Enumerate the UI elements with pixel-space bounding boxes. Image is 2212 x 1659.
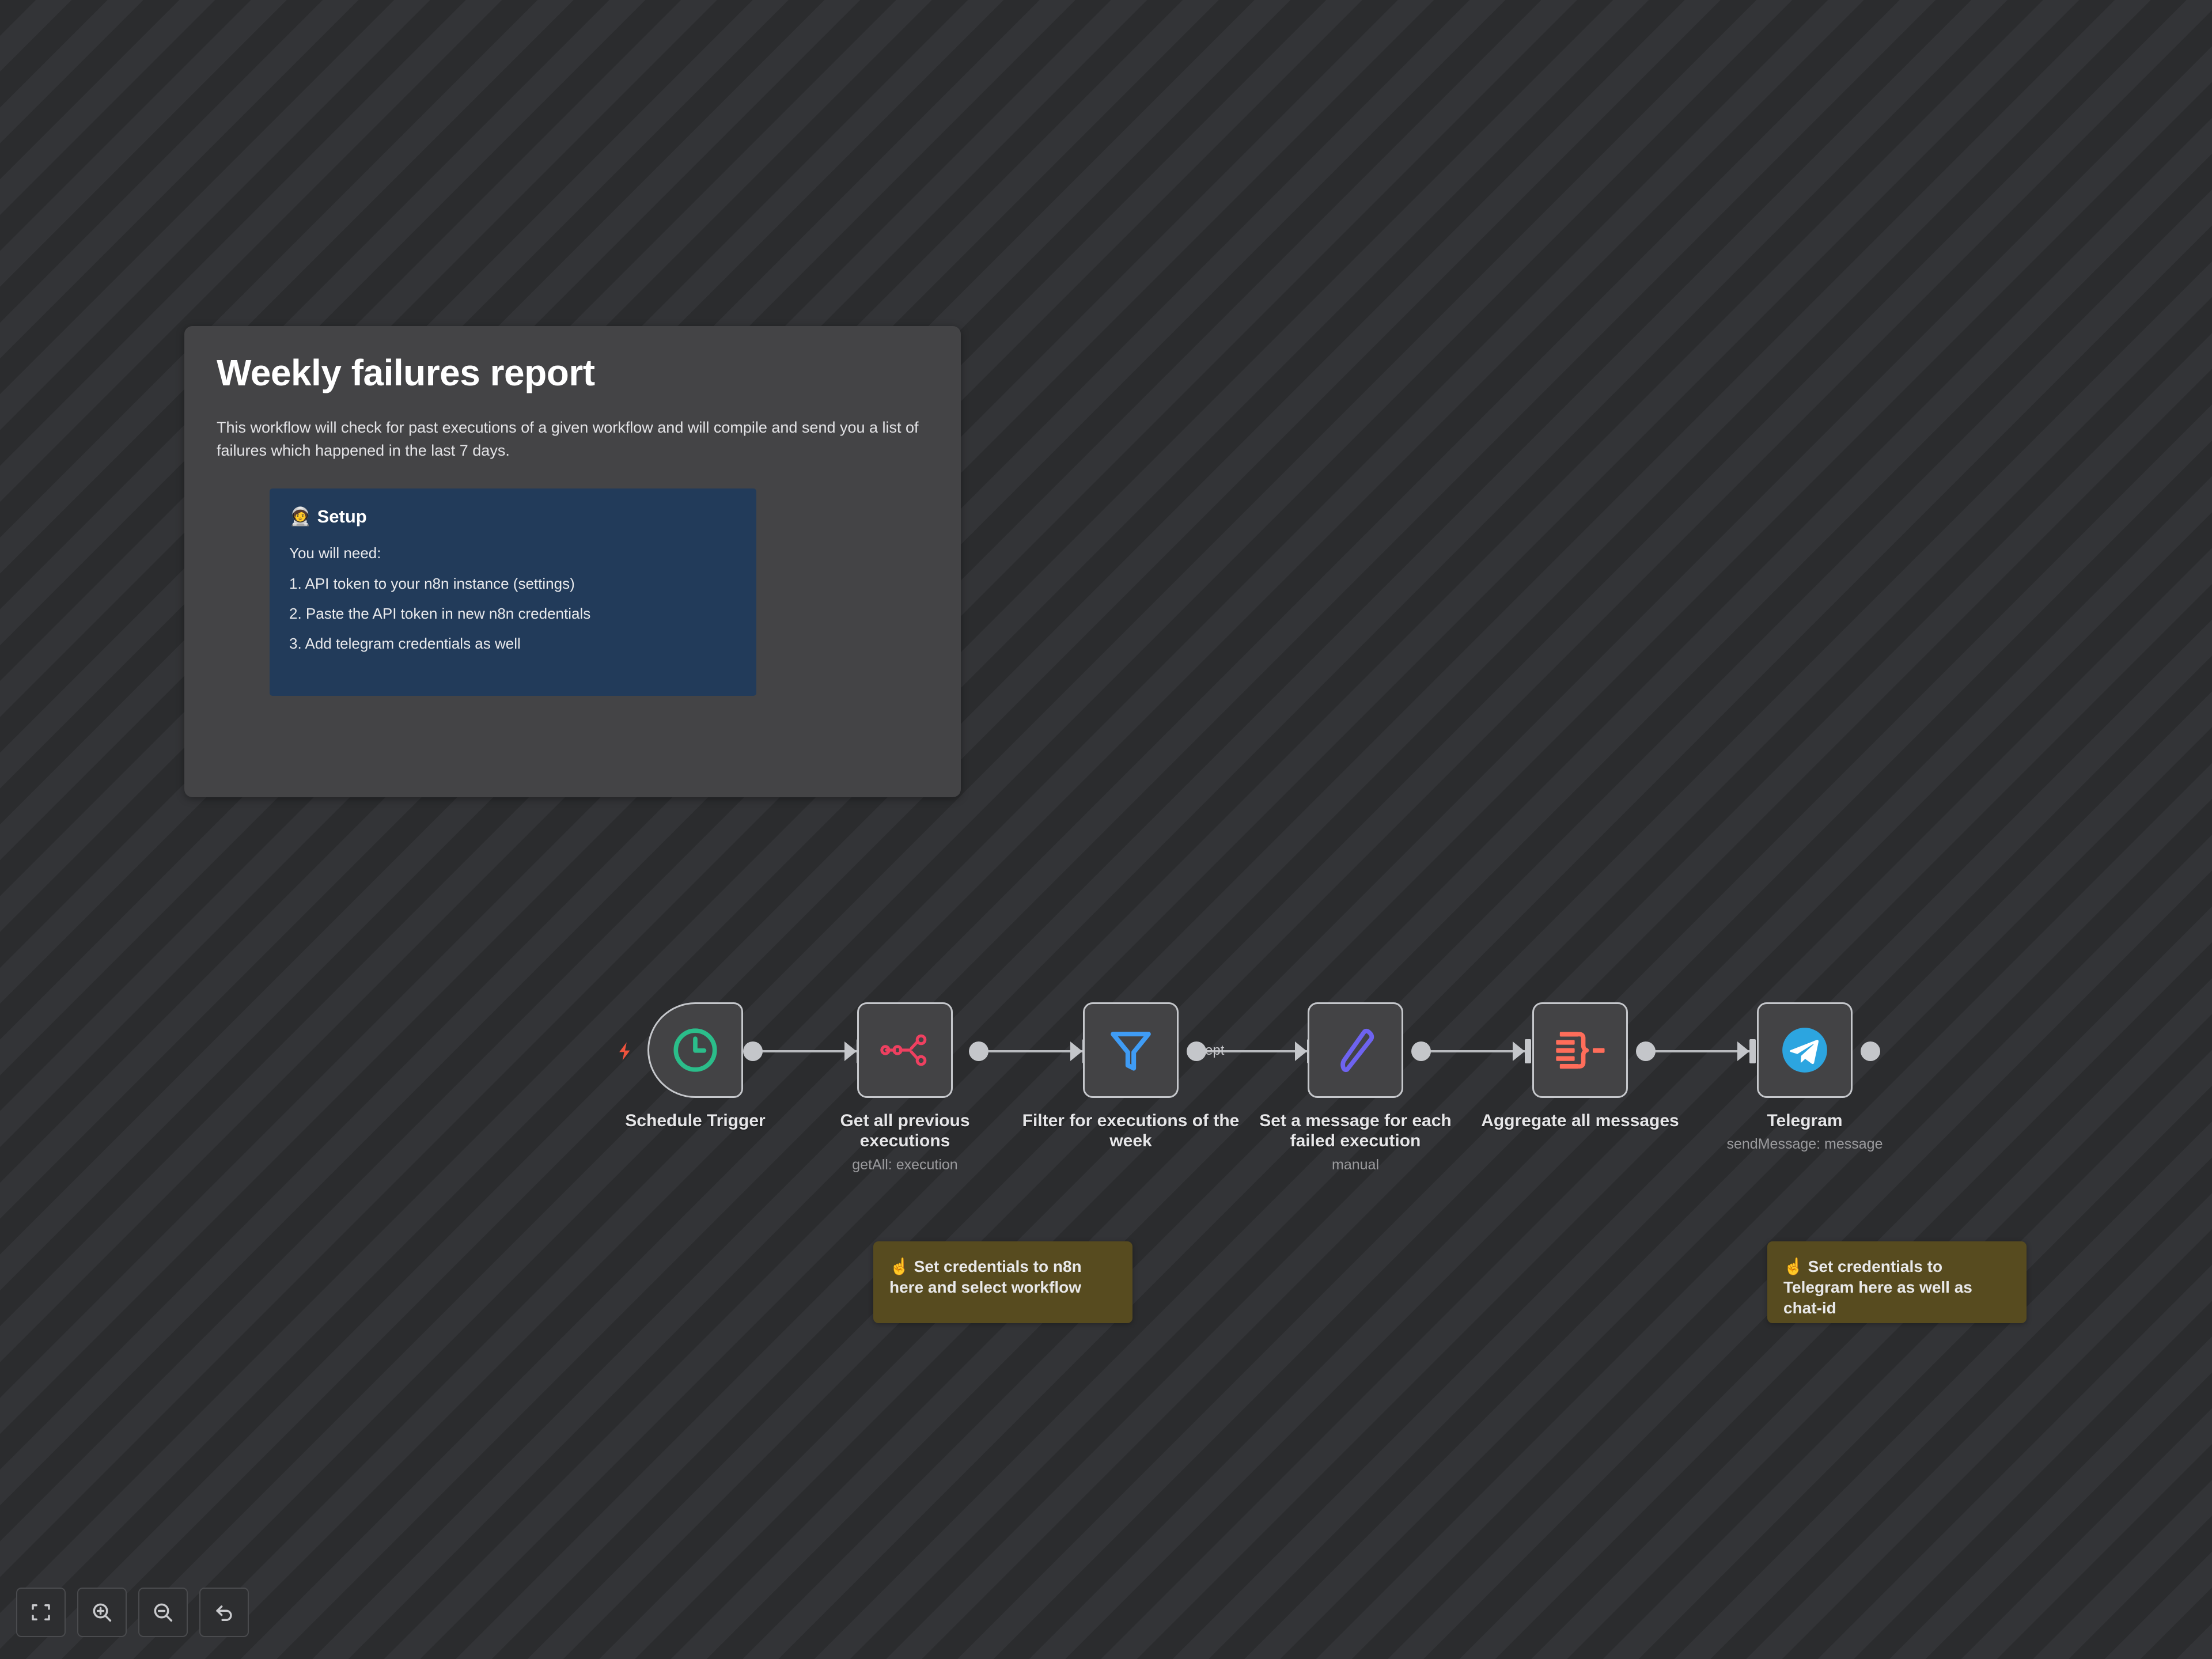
list-item: 3. Add telegram credentials as well <box>289 636 737 651</box>
workflow-canvas[interactable] <box>0 0 2212 1659</box>
undo-arrow-icon <box>212 1600 236 1624</box>
n8n-logo-icon <box>880 1025 930 1075</box>
connection-output-dot[interactable] <box>1636 1041 1656 1061</box>
connection-output-dot[interactable] <box>743 1041 763 1061</box>
connection-output-dot[interactable] <box>1187 1041 1206 1061</box>
sticky-note-telegram-credentials[interactable]: ☝️ Set credentials to Telegram here as w… <box>1767 1241 2027 1323</box>
sticky-note-title: Weekly failures report <box>217 354 929 392</box>
setup-steps-list: 1. API token to your n8n instance (setti… <box>289 576 737 651</box>
telegram-icon <box>1779 1025 1830 1075</box>
zoom-to-fit-button[interactable] <box>16 1588 66 1637</box>
connection-input-bar <box>1749 1039 1756 1063</box>
sticky-note-main[interactable]: Weekly failures report This workflow wil… <box>184 326 961 797</box>
zoom-in-icon <box>90 1600 114 1624</box>
connection-line[interactable] <box>753 1050 857 1052</box>
zoom-in-button[interactable] <box>77 1588 127 1637</box>
node-filter-for-executions-of-the-week[interactable] <box>1083 1002 1179 1098</box>
connection-input-arrow <box>1513 1041 1525 1061</box>
funnel-icon <box>1105 1025 1156 1075</box>
list-item: 1. API token to your n8n instance (setti… <box>289 576 737 591</box>
node-aggregate-all-messages[interactable] <box>1532 1002 1628 1098</box>
node-set-a-message-for-each-failed-execution[interactable] <box>1308 1002 1403 1098</box>
connection-input-arrow <box>1070 1041 1082 1061</box>
connection-input-arrow <box>844 1041 857 1061</box>
zoom-to-fit-icon <box>29 1600 53 1624</box>
node-telegram[interactable] <box>1757 1002 1853 1098</box>
node-get-all-previous-executions[interactable] <box>857 1002 953 1098</box>
connection-output-dot[interactable] <box>1861 1041 1880 1061</box>
connection-input-arrow <box>1737 1041 1749 1061</box>
connection-line[interactable] <box>979 1050 1083 1052</box>
setup-callout: 🧑‍🚀 Setup You will need: 1. API token to… <box>270 488 756 696</box>
clock-icon <box>670 1025 721 1075</box>
sticky-note-body: This workflow will check for past execut… <box>217 416 929 462</box>
canvas-toolbar[interactable] <box>16 1588 249 1637</box>
lightning-bolt-icon <box>615 1039 635 1064</box>
zoom-out-icon <box>151 1600 175 1624</box>
pointing-finger-emoji-icon: ☝️ <box>1783 1257 1804 1275</box>
connection-input-bar <box>1525 1039 1531 1063</box>
node-schedule-trigger[interactable] <box>647 1002 743 1098</box>
connection-output-dot[interactable] <box>1411 1041 1431 1061</box>
aggregate-icon <box>1555 1025 1605 1075</box>
connection-input-arrow <box>1295 1041 1307 1061</box>
setup-subheading: You will need: <box>289 544 737 562</box>
connection-line[interactable] <box>1646 1050 1750 1052</box>
sticky-note-n8n-credentials[interactable]: ☝️ Set credentials to n8n here and selec… <box>873 1241 1132 1323</box>
connection-line[interactable] <box>1422 1050 1525 1052</box>
sticky-note-text: Set credentials to n8n here and select w… <box>889 1257 1082 1296</box>
reset-zoom-button[interactable] <box>199 1588 249 1637</box>
pencil-icon <box>1330 1025 1381 1075</box>
astronaut-emoji-icon: 🧑‍🚀 <box>289 506 312 527</box>
list-item: 2. Paste the API token in new n8n creden… <box>289 606 737 621</box>
setup-callout-heading: 🧑‍🚀 Setup <box>289 506 737 527</box>
pointing-finger-emoji-icon: ☝️ <box>889 1257 910 1275</box>
connection-output-dot[interactable] <box>969 1041 988 1061</box>
sticky-note-text: Set credentials to Telegram here as well… <box>1783 1257 1972 1317</box>
zoom-out-button[interactable] <box>138 1588 188 1637</box>
setup-heading-text: Setup <box>317 506 367 527</box>
